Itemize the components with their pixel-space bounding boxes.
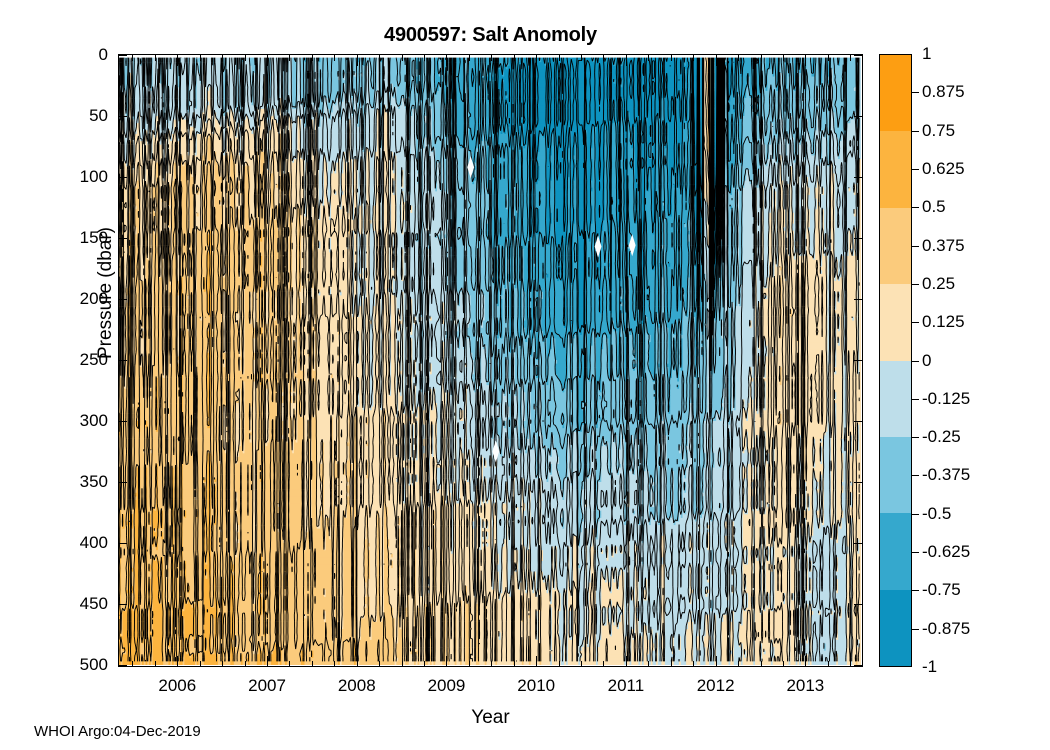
y-tickmark-right <box>854 55 862 56</box>
x-tickmark-major <box>626 656 627 667</box>
x-axis-label: Year <box>118 707 863 729</box>
x-tickmark-major <box>716 55 717 66</box>
x-tickmark-minor <box>648 661 649 667</box>
colorbar-band <box>880 513 911 589</box>
y-tickmark <box>119 177 127 178</box>
x-tickmark-minor <box>379 55 380 61</box>
x-tickmark-major <box>177 55 178 66</box>
y-tickmark <box>119 299 127 300</box>
colorbar-tickmark <box>912 514 919 515</box>
colorbar-tick-label: -0.875 <box>922 619 992 639</box>
x-tickmark-minor <box>738 661 739 667</box>
x-tickmark-minor <box>402 661 403 667</box>
x-tick-label: 2008 <box>322 676 392 696</box>
y-tickmark <box>119 604 127 605</box>
colorbar-tickmark <box>912 475 919 476</box>
x-tickmark-minor <box>312 661 313 667</box>
x-tickmark-minor <box>828 55 829 61</box>
colorbar-band <box>880 361 911 437</box>
x-tickmark-minor <box>312 55 313 61</box>
x-tick-label: 2013 <box>770 676 840 696</box>
colorbar-tick-label: 0 <box>922 351 992 371</box>
x-tickmark-minor <box>334 55 335 61</box>
x-tickmark-minor <box>424 661 425 667</box>
chart-title: 4900597: Salt Anomoly <box>118 24 863 47</box>
y-tickmark <box>119 360 127 361</box>
x-tickmark-minor <box>693 661 694 667</box>
x-tickmark-minor <box>671 661 672 667</box>
x-tickmark-minor <box>222 661 223 667</box>
contour-field <box>119 55 861 665</box>
x-tickmark-minor <box>671 55 672 61</box>
colorbar-tick-label: -0.25 <box>922 427 992 447</box>
colorbar-tick-label: 0.75 <box>922 121 992 141</box>
y-tickmark-right <box>854 238 862 239</box>
x-tickmark-major <box>177 656 178 667</box>
x-tickmark-minor <box>245 55 246 61</box>
colorbar-tick-label: -0.375 <box>922 465 992 485</box>
x-tickmark-minor <box>559 661 560 667</box>
x-tickmark-minor <box>245 661 246 667</box>
x-tickmark-minor <box>155 55 156 61</box>
x-tickmark-minor <box>200 55 201 61</box>
x-tickmark-minor <box>402 55 403 61</box>
x-tick-label: 2011 <box>591 676 661 696</box>
x-tickmark-major <box>626 55 627 66</box>
y-tickmark <box>119 421 127 422</box>
x-tickmark-minor <box>155 661 156 667</box>
y-tick-label: 250 <box>46 350 108 370</box>
x-tickmark-minor <box>200 661 201 667</box>
x-tickmark-minor <box>514 55 515 61</box>
x-tickmark-major <box>805 55 806 66</box>
colorbar-tick-label: -0.125 <box>922 389 992 409</box>
colorbar-tick-label: -0.75 <box>922 580 992 600</box>
y-tick-label: 0 <box>46 45 108 65</box>
x-tickmark-minor <box>491 661 492 667</box>
x-tickmark-major <box>446 656 447 667</box>
chart-canvas: 4900597: Salt Anomoly Pressure (dbar) Ye… <box>0 0 1050 750</box>
x-tickmark-major <box>446 55 447 66</box>
y-tickmark-right <box>854 421 862 422</box>
x-tickmark-minor <box>379 661 380 667</box>
colorbar-tick-label: 0.125 <box>922 312 992 332</box>
y-tick-label: 400 <box>46 533 108 553</box>
x-tickmark-minor <box>581 661 582 667</box>
x-tickmark-minor <box>334 661 335 667</box>
x-tick-label: 2007 <box>232 676 302 696</box>
colorbar-tick-label: 0.625 <box>922 159 992 179</box>
y-tickmark <box>119 238 127 239</box>
x-tickmark-minor <box>469 55 470 61</box>
x-tickmark-minor <box>648 55 649 61</box>
x-tickmark-minor <box>761 661 762 667</box>
colorbar-tick-label: 0.875 <box>922 82 992 102</box>
x-tickmark-minor <box>222 55 223 61</box>
y-tickmark-right <box>854 360 862 361</box>
colorbar-tickmark <box>912 590 919 591</box>
colorbar-tickmark <box>912 169 919 170</box>
x-tickmark-minor <box>850 661 851 667</box>
y-tickmark <box>119 55 127 56</box>
colorbar-tickmark <box>912 361 919 362</box>
y-tickmark-right <box>854 665 862 666</box>
x-tickmark-minor <box>783 55 784 61</box>
x-tickmark-major <box>267 55 268 66</box>
y-tick-label: 450 <box>46 594 108 614</box>
footer-credit: WHOI Argo:04-Dec-2019 <box>34 723 201 740</box>
x-tick-label: 2006 <box>142 676 212 696</box>
colorbar-band <box>880 208 911 284</box>
contour-plot-area <box>118 54 863 667</box>
x-tickmark-minor <box>132 55 133 61</box>
colorbar-tick-label: 0.25 <box>922 274 992 294</box>
x-tickmark-major <box>536 55 537 66</box>
colorbar-tickmark <box>912 322 919 323</box>
x-tickmark-minor <box>514 661 515 667</box>
colorbar-tickmark <box>912 246 919 247</box>
colorbar-band <box>880 131 911 207</box>
y-tick-label: 500 <box>46 655 108 675</box>
colorbar-tickmark <box>912 131 919 132</box>
x-tickmark-major <box>357 656 358 667</box>
x-tickmark-major <box>716 656 717 667</box>
x-tickmark-major <box>357 55 358 66</box>
y-tickmark-right <box>854 177 862 178</box>
y-tick-label: 50 <box>46 106 108 126</box>
x-tickmark-major <box>805 656 806 667</box>
y-tickmark-right <box>854 604 862 605</box>
colorbar-tickmark <box>912 629 919 630</box>
x-tickmark-minor <box>850 55 851 61</box>
colorbar-band <box>880 55 911 131</box>
x-tickmark-minor <box>559 55 560 61</box>
colorbar-band <box>880 437 911 513</box>
colorbar-tickmark <box>912 552 919 553</box>
y-tickmark-right <box>854 543 862 544</box>
x-tickmark-minor <box>581 55 582 61</box>
colorbar[interactable] <box>879 54 912 667</box>
y-tickmark-right <box>854 482 862 483</box>
colorbar-tick-label: 0.5 <box>922 197 992 217</box>
y-tickmark <box>119 665 127 666</box>
colorbar-tickmark <box>912 399 919 400</box>
x-tickmark-minor <box>469 661 470 667</box>
x-tickmark-major <box>267 656 268 667</box>
x-tickmark-minor <box>289 661 290 667</box>
x-tickmark-minor <box>603 661 604 667</box>
y-tickmark-right <box>854 116 862 117</box>
x-tickmark-major <box>536 656 537 667</box>
x-tick-label: 2009 <box>411 676 481 696</box>
x-tickmark-minor <box>289 55 290 61</box>
colorbar-tickmark <box>912 92 919 93</box>
x-tick-label: 2010 <box>501 676 571 696</box>
y-tickmark-right <box>854 299 862 300</box>
x-tickmark-minor <box>424 55 425 61</box>
y-tickmark <box>119 543 127 544</box>
x-tickmark-minor <box>738 55 739 61</box>
x-tickmark-minor <box>132 661 133 667</box>
y-tick-label: 350 <box>46 472 108 492</box>
colorbar-tick-label: 1 <box>922 44 992 64</box>
y-tickmark <box>119 116 127 117</box>
x-tick-label: 2012 <box>681 676 751 696</box>
x-tickmark-minor <box>693 55 694 61</box>
x-tickmark-minor <box>491 55 492 61</box>
colorbar-band <box>880 284 911 360</box>
y-tick-label: 300 <box>46 411 108 431</box>
colorbar-tick-label: -0.5 <box>922 504 992 524</box>
colorbar-tick-label: -1 <box>922 657 992 677</box>
colorbar-tick-label: -0.625 <box>922 542 992 562</box>
colorbar-tick-label: 0.375 <box>922 236 992 256</box>
colorbar-tickmark <box>912 284 919 285</box>
y-tickmark <box>119 482 127 483</box>
x-tickmark-minor <box>603 55 604 61</box>
y-tick-label: 200 <box>46 289 108 309</box>
y-tick-label: 100 <box>46 167 108 187</box>
y-tick-label: 150 <box>46 228 108 248</box>
x-tickmark-minor <box>761 55 762 61</box>
colorbar-tickmark <box>912 437 919 438</box>
x-tickmark-minor <box>828 661 829 667</box>
colorbar-band <box>880 590 911 666</box>
colorbar-tickmark <box>912 207 919 208</box>
x-tickmark-minor <box>783 661 784 667</box>
